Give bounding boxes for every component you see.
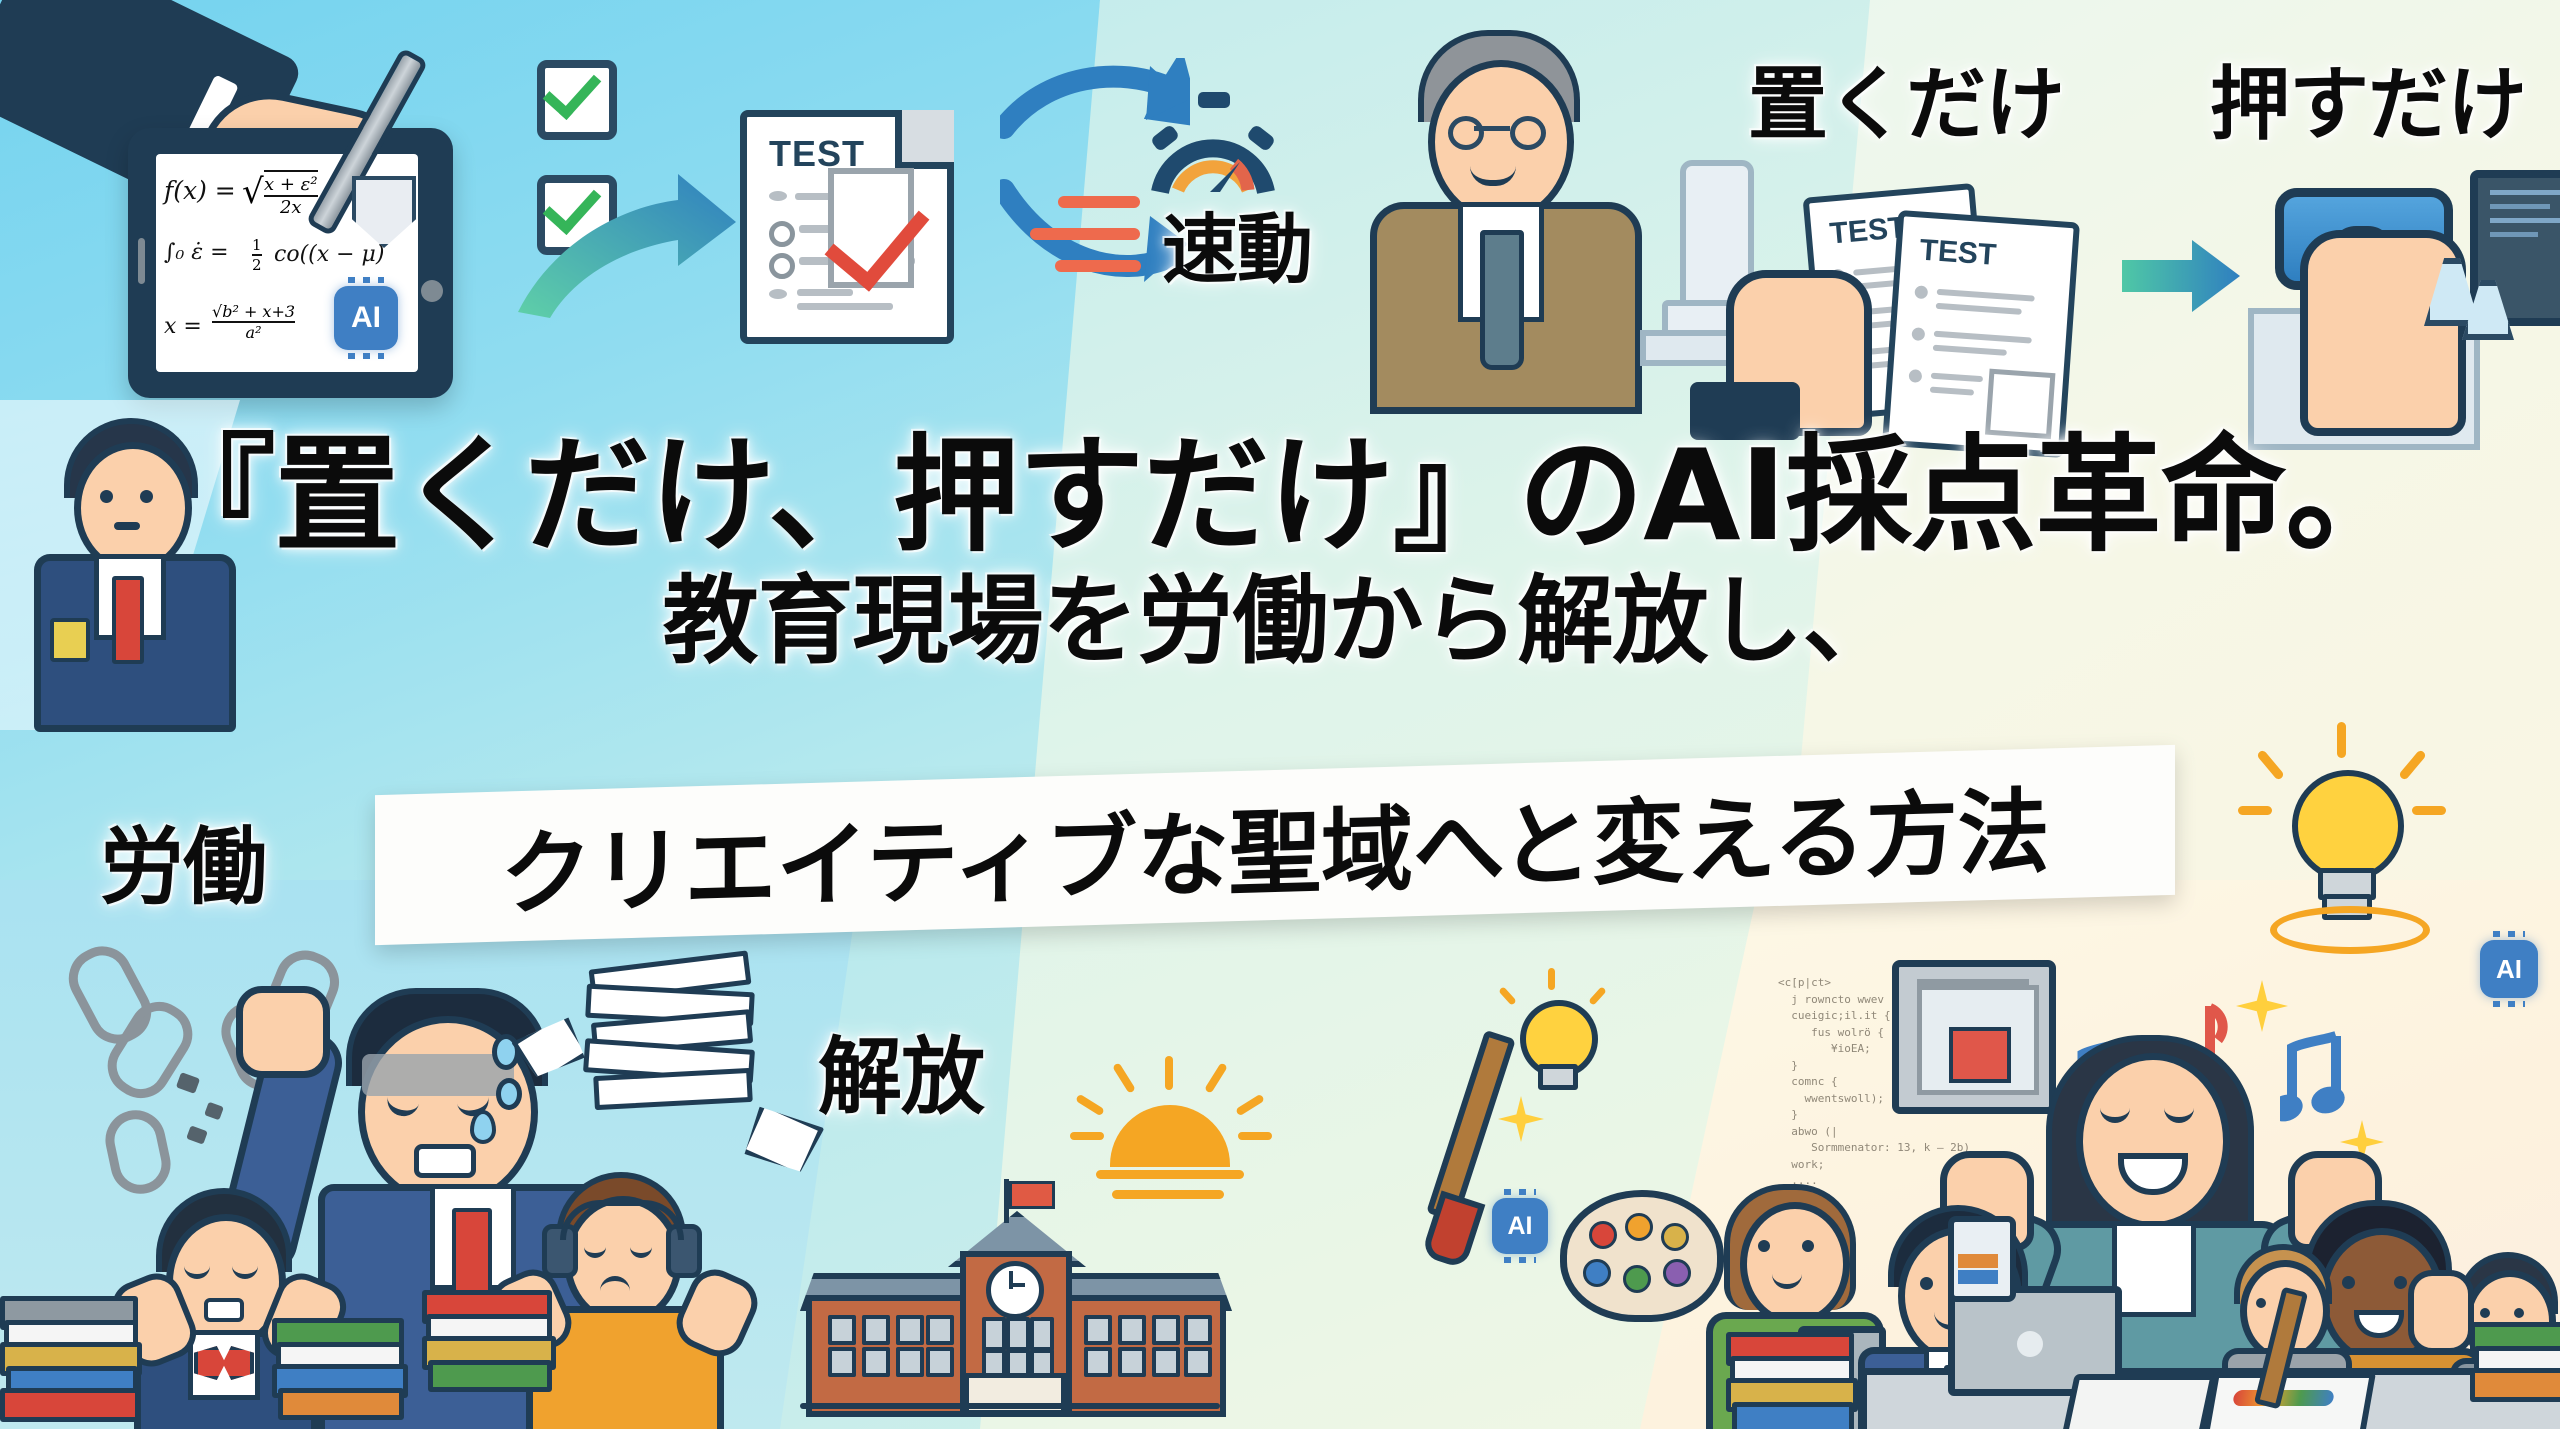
label-place-only: 置くだけ	[1748, 40, 2064, 156]
headline-line-2: 教育現場を労働から解放し、	[0, 570, 2560, 674]
flow-arrow-4-icon	[2122, 238, 2242, 318]
eye	[2394, 1276, 2407, 1289]
art-tablet	[2202, 1372, 2376, 1429]
tower-clock-icon	[986, 1261, 1044, 1319]
school-building	[800, 1165, 1220, 1413]
teacher-white-shirt	[2112, 1221, 2196, 1317]
sqrt-symbol: √	[242, 172, 264, 212]
shadow-overlay	[362, 1054, 514, 1096]
smiling-teacher-figure	[1340, 20, 1670, 400]
eye	[1802, 1240, 1814, 1252]
lightbulb-base	[1538, 1064, 1578, 1090]
formula-2-lhs: ∫₀ ε̇ =	[164, 240, 229, 265]
flag-icon	[1009, 1181, 1055, 1209]
formula-2-rhs: co((x − μ)	[274, 242, 384, 267]
worksheet-paper	[2061, 1374, 2217, 1429]
eye	[1758, 1240, 1770, 1252]
paint-palette-icon	[1560, 1190, 1724, 1322]
formula-3-denominator: a²	[212, 321, 295, 342]
formula-3-numerator: √b² + x+3	[212, 302, 295, 321]
eye	[2342, 1276, 2355, 1289]
glasses-bridge	[1474, 126, 1510, 131]
formula-3-lhs: x =	[164, 314, 202, 339]
formula-3-fraction: √b² + x+3 a²	[212, 302, 295, 342]
checkbox-checked-1	[537, 60, 617, 140]
lightbulb-icon-2	[2292, 770, 2404, 882]
headphone-band	[560, 1200, 684, 1240]
halo-ring	[2270, 906, 2430, 954]
tablet-home-button	[421, 280, 443, 302]
clock-hand	[1009, 1283, 1025, 1287]
hand-holding-tablet-group: f(x) = √ x + ε² 2x ∫₀ ε̇ = 1 2 co((x − μ…	[0, 0, 520, 430]
waving-hand-icon	[2408, 1270, 2474, 1354]
headline-group: 『置くだけ、押すだけ』のAI採点革命。 教育現場を労働から解放し、	[0, 430, 2560, 674]
girl-mouth	[204, 1298, 244, 1322]
eye	[1920, 1277, 1933, 1290]
happy-teacher-head	[2076, 1053, 2230, 1229]
tablet-device: f(x) = √ x + ε² 2x ∫₀ ε̇ = 1 2 co((x − μ…	[128, 128, 453, 398]
flow-arrow-1-icon	[510, 170, 740, 320]
sweat-drop-icon	[470, 1110, 496, 1144]
glasses-icon	[1510, 116, 1546, 150]
formula-1-fraction: x + ε² 2x	[264, 170, 318, 218]
open-mouth	[414, 1144, 476, 1178]
formula-2-denominator: 2	[252, 254, 262, 274]
formula-2-numerator: 1	[252, 236, 262, 254]
ground-line	[800, 1403, 1220, 1409]
horizon-line	[1096, 1170, 1244, 1179]
label-fast-action: 速動	[1162, 188, 1312, 298]
glasses-icon	[1448, 116, 1484, 150]
eye	[2480, 1308, 2490, 1318]
test-paper-card-3: TEST	[1882, 210, 2080, 458]
tablet-side-button	[138, 238, 145, 284]
headline-line-1: 『置くだけ、押すだけ』のAI採点革命。	[0, 430, 2560, 562]
pressing-hand-icon	[2300, 230, 2466, 436]
head	[1740, 1202, 1850, 1326]
label-labor: 労働	[100, 800, 266, 921]
label-liberation: 解放	[818, 1010, 984, 1131]
eye	[2256, 1298, 2266, 1308]
sweat-drop-icon	[492, 1034, 520, 1070]
fist-icon	[236, 986, 330, 1078]
test-paper-3-title: TEST	[1918, 234, 1997, 273]
label-press-only: 押すだけ	[2210, 40, 2526, 156]
formula-2-fraction: 1 2	[252, 236, 262, 274]
ai-chip-icon: AI	[334, 286, 398, 350]
ai-chip-icon-2: AI	[2480, 940, 2538, 998]
teacher-necktie	[1480, 230, 1524, 370]
formula-1-numerator: x + ε²	[264, 174, 318, 195]
poster-canvas: f(x) = √ x + ε² 2x ∫₀ ε̇ = 1 2 co((x − μ…	[0, 0, 2560, 1429]
eye	[2514, 1308, 2524, 1318]
formula-1-lhs: f(x) =	[164, 176, 236, 205]
sweat-drop-icon	[496, 1078, 522, 1110]
ai-chip-icon-3: AI	[1492, 1198, 1548, 1254]
specimen-jar-icon	[1948, 1216, 2016, 1302]
horizon-line	[1112, 1190, 1224, 1199]
